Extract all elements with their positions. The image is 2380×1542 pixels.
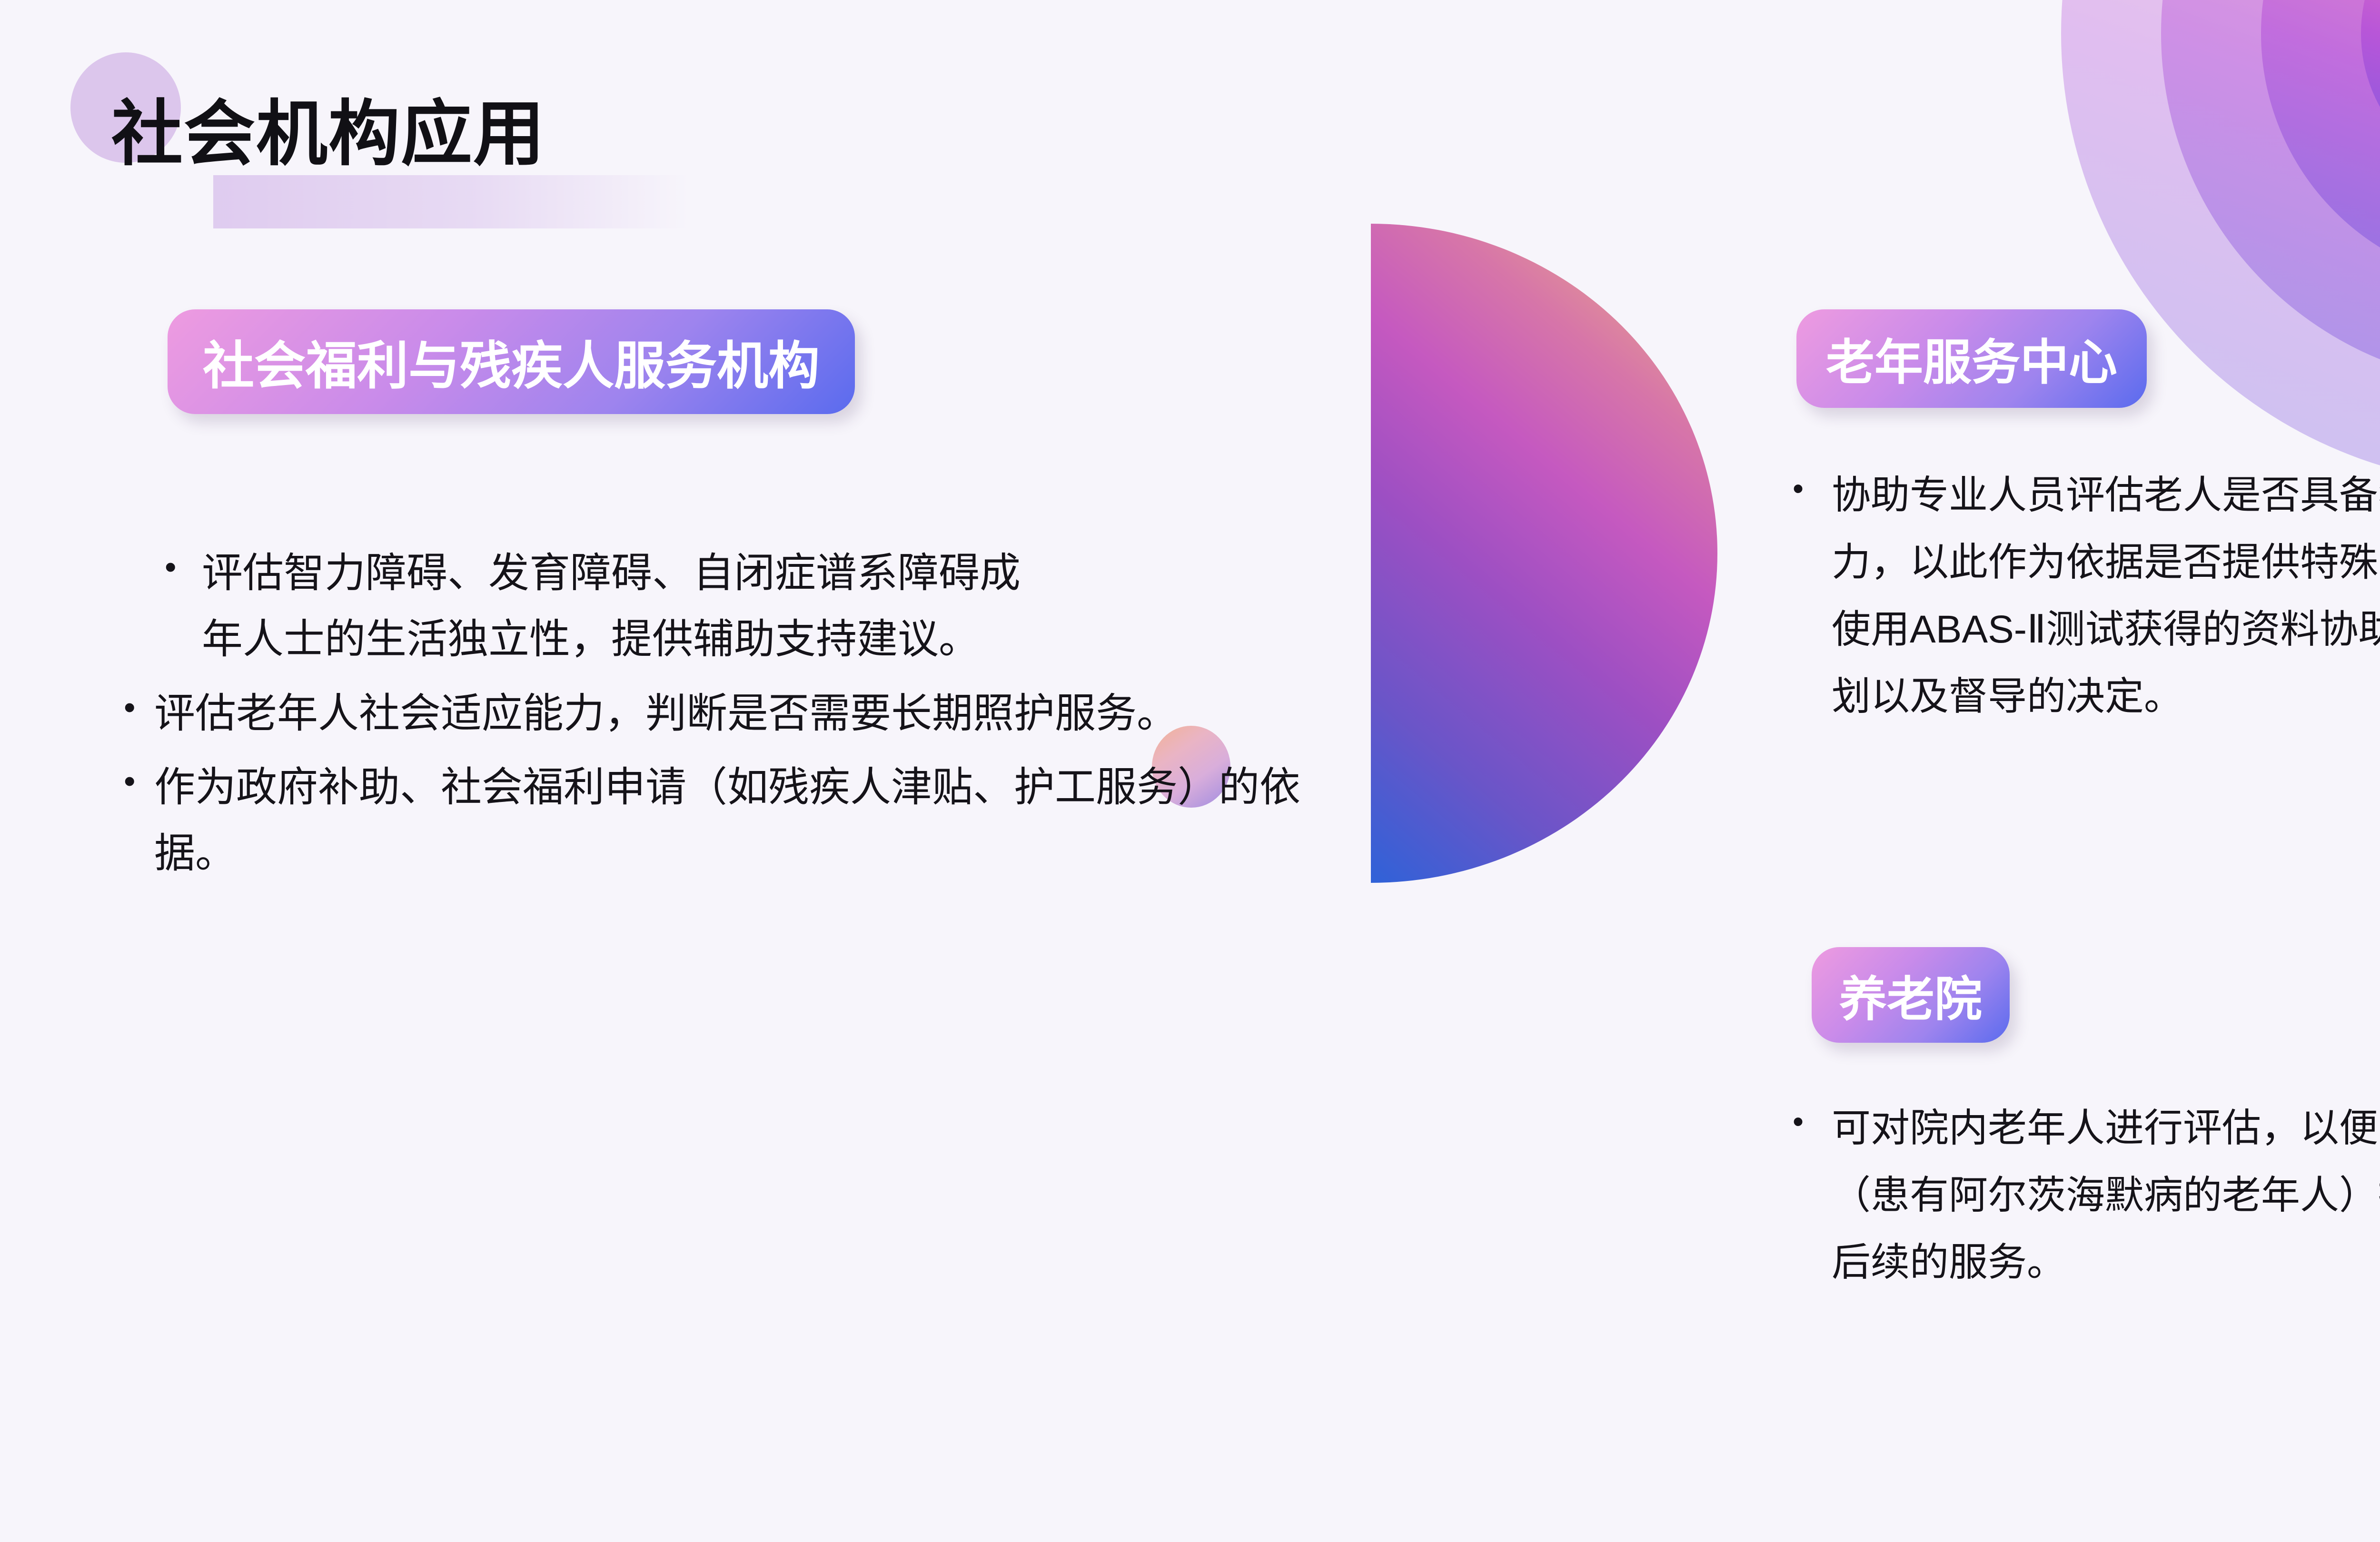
list-item-text: 协助专业人员评估老人是否具备独立生活地能力，以此作为依据是否提供特殊资格服务。也…: [1832, 462, 2380, 730]
ring-third-icon: [2161, 0, 2380, 385]
left-column-bullets: • 评估智力障碍、发育障碍、自闭症谱系障碍成年人士的生活独立性，提供辅助支持建议…: [124, 540, 1380, 895]
badge-label: 社会福利与残疾人服务机构: [203, 325, 820, 399]
list-item: • 可对院内老年人进行评估，以便于对特定地人群（患有阿尔茨海默病的老年人）提供评…: [1793, 1095, 2380, 1296]
page-title: 社会机构应用: [111, 98, 545, 169]
ring-second-icon: [2261, 0, 2380, 286]
badge-label: 老年服务中心: [1826, 324, 2117, 394]
ring-outer-icon: [2061, 0, 2380, 485]
list-item-text: 作为政府补助、社会福利申请（如残疾人津贴、护工服务）的依据。: [154, 754, 1380, 887]
slide-canvas: 社会机构应用 社会福利与残疾人服务机构 • 评估智力障碍、发育障碍、自闭症谱系障…: [0, 0, 2380, 1542]
list-item-text: 评估智力障碍、发育障碍、自闭症谱系障碍成年人士的生活独立性，提供辅助支持建议。: [202, 540, 1036, 673]
bullet-marker-icon: •: [1793, 1095, 1832, 1149]
ring-inner-icon: [2361, 0, 2380, 186]
list-item-text: 评估老年人社会适应能力，判断是否需要长期照护服务。: [154, 681, 1380, 747]
bullet-marker-icon: •: [124, 754, 154, 808]
bullet-marker-icon: •: [165, 540, 202, 594]
badge-nursing-home[interactable]: 养老院: [1812, 947, 2010, 1043]
list-item: • 评估老年人社会适应能力，判断是否需要长期照护服务。: [124, 681, 1380, 747]
title-highlight-band: [213, 175, 689, 228]
badge-elderly-service-center[interactable]: 老年服务中心: [1796, 309, 2147, 408]
page-title-group: 社会机构应用: [70, 52, 784, 176]
list-item: • 作为政府补助、社会福利申请（如残疾人津贴、护工服务）的依据。: [124, 754, 1380, 887]
half-ellipse-decoration: [1371, 224, 1717, 883]
list-item-text: 可对院内老年人进行评估，以便于对特定地人群（患有阿尔茨海默病的老年人）提供评估，…: [1832, 1095, 2380, 1296]
badge-social-welfare[interactable]: 社会福利与残疾人服务机构: [168, 309, 855, 414]
bullet-marker-icon: •: [1793, 462, 1832, 516]
list-item: • 协助专业人员评估老人是否具备独立生活地能力，以此作为依据是否提供特殊资格服务…: [1793, 462, 2380, 730]
right-column-section-2-bullets: • 可对院内老年人进行评估，以便于对特定地人群（患有阿尔茨海默病的老年人）提供评…: [1793, 1095, 2380, 1296]
list-item: • 评估智力障碍、发育障碍、自闭症谱系障碍成年人士的生活独立性，提供辅助支持建议…: [124, 540, 1036, 673]
right-column-section-1-bullets: • 协助专业人员评估老人是否具备独立生活地能力，以此作为依据是否提供特殊资格服务…: [1793, 462, 2380, 730]
concentric-rings-decoration: [1837, 0, 2380, 904]
bullet-marker-icon: •: [124, 681, 154, 734]
badge-label: 养老院: [1839, 960, 1982, 1029]
